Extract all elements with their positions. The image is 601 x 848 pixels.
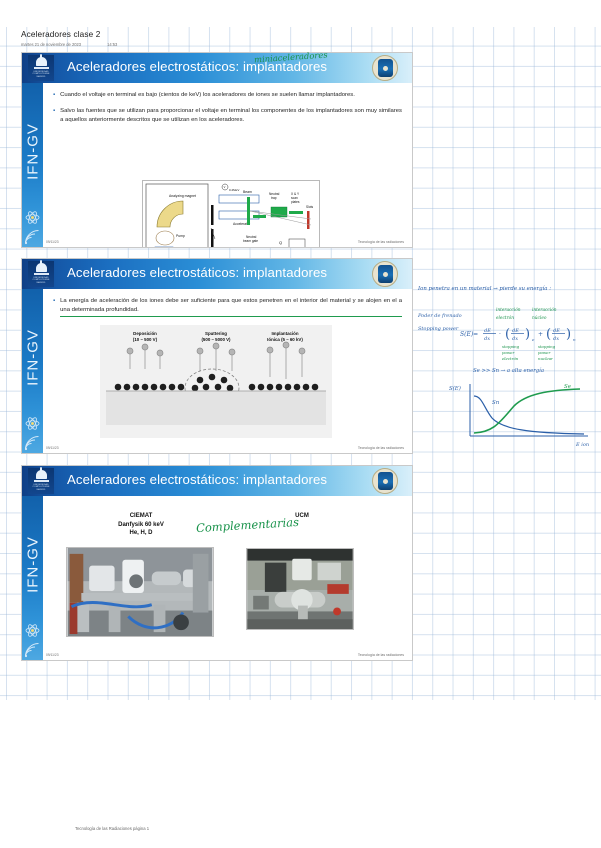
note-sub-electron-2: power xyxy=(502,350,514,355)
svg-text:e: e xyxy=(532,337,535,342)
photo-ucm-accelerator xyxy=(246,548,354,630)
seal-dot-shape xyxy=(383,272,388,277)
atom-icon xyxy=(25,623,40,638)
university-crest-icon: UNIVERSIDAD COMPLUTENSE MADRID xyxy=(28,55,54,81)
note-tag-nucleo-top: interacción xyxy=(532,308,557,313)
waves-icon xyxy=(24,230,41,245)
svg-text:beam gate: beam gate xyxy=(243,239,258,243)
slide-3-title: Aceleradores electrostáticos: implantado… xyxy=(67,472,327,487)
svg-text:): ) xyxy=(566,327,571,342)
svg-text:dE: dE xyxy=(553,328,560,334)
seal-inner-shape xyxy=(378,265,393,283)
atom-icon xyxy=(25,210,40,225)
svg-text:Pump: Pump xyxy=(176,234,185,238)
seal-inner-shape xyxy=(378,59,393,77)
slide-1-bullet-list: ▪ Cuando el voltaje en terminal es bajo … xyxy=(53,91,402,126)
note-sub-electron-1: stopping xyxy=(502,344,519,349)
implanter-schematic-svg: Analyzing magnet Pump Ion source V 0.20M… xyxy=(143,181,321,248)
svg-text:0.2MeV: 0.2MeV xyxy=(229,188,239,192)
crest-dome-shape xyxy=(36,263,47,272)
svg-text:Sn: Sn xyxy=(492,400,500,406)
atom-icon xyxy=(25,416,40,431)
slide-2-title: Aceleradores electrostáticos: implantado… xyxy=(67,265,327,280)
svg-text:n: n xyxy=(573,337,576,342)
caption-ciemat: CIEMAT Danfysik 60 keV He, H, D xyxy=(96,512,186,538)
photo-ciemat-accelerator xyxy=(66,547,214,637)
slide-1-brand-strip: IFN-GV xyxy=(22,83,43,248)
university-crest-icon: UNIVERSIDAD COMPLUTENSE MADRID xyxy=(28,261,54,287)
university-crest-icon: UNIVERSIDAD COMPLUTENSE MADRID xyxy=(28,468,54,494)
svg-text:): ) xyxy=(525,327,530,342)
implanter-schematic-figure: Analyzing magnet Pump Ion source V 0.20M… xyxy=(142,180,320,248)
slide-3-footer-label: Tecnología de las radiaciones xyxy=(358,653,404,657)
document-time: 14:53 xyxy=(107,42,117,47)
svg-text:dE: dE xyxy=(484,328,491,334)
note-sub-nuclear-1: stopping xyxy=(538,344,555,349)
crest-caption: UNIVERSIDAD COMPLUTENSE MADRID xyxy=(28,71,54,79)
stopping-power-graph: S(E) E ion Sn Se xyxy=(448,378,598,450)
svg-text:(10 – 500 V): (10 – 500 V) xyxy=(133,337,158,342)
slide-1[interactable]: UNIVERSIDAD COMPLUTENSE MADRID Acelerado… xyxy=(21,52,413,248)
stopping-power-formula: S(E)= dE dx · ( dE dx ) e + ( dE dx ) n xyxy=(460,322,600,344)
slide-2-brand-strip: IFN-GV xyxy=(22,289,43,454)
bullet-text: Cuando el voltaje en terminal es bajo (c… xyxy=(60,91,402,100)
svg-text:Iónica (5 – 60 kV): Iónica (5 – 60 kV) xyxy=(267,337,303,342)
bullet-text: Salvo las fuentes que se utilizan para p… xyxy=(60,107,402,125)
page-top-margin xyxy=(0,0,601,27)
crest-dome-shape xyxy=(36,470,47,479)
svg-text:·: · xyxy=(499,331,501,338)
svg-text:Se: Se xyxy=(564,384,571,390)
photo-ucm-svg xyxy=(247,549,353,629)
document-title: Aceleradores clase 2 xyxy=(21,30,117,39)
slide-1-footer-label: Tecnología de las radiaciones xyxy=(358,240,404,244)
slide-2-footer-label: Tecnología de las radiaciones xyxy=(358,446,404,450)
slide-3-footer-date: 09/11/23 xyxy=(46,653,59,657)
svg-text:(: ( xyxy=(546,327,551,342)
slide-2-footer-date: 09/11/23 xyxy=(46,446,59,450)
bullet-marker-icon: ▪ xyxy=(53,91,55,100)
svg-text:0.20MeV: 0.20MeV xyxy=(179,246,191,248)
bullet-item: ▪ Cuando el voltaje en terminal es bajo … xyxy=(53,91,402,100)
svg-text:Sputtering: Sputtering xyxy=(205,331,227,336)
crest-caption: UNIVERSIDAD COMPLUTENSE MADRID xyxy=(28,277,54,285)
svg-text:trap: trap xyxy=(271,196,277,200)
svg-text:(: ( xyxy=(505,327,510,342)
svg-text:dx: dx xyxy=(484,336,490,342)
bullet-marker-icon: ▪ xyxy=(53,107,55,125)
document-date: martes 21 de noviembre de 2023 xyxy=(21,42,81,47)
brand-label: IFN-GV xyxy=(25,324,42,392)
svg-text:Slots: Slots xyxy=(306,205,313,209)
ion-process-svg: Deposición (10 – 500 V) Sputtering (500 … xyxy=(100,325,332,438)
svg-text:Beam: Beam xyxy=(243,190,252,194)
note-stopping-power: Stopping power xyxy=(418,326,458,332)
slide-2-bullet-list: ▪ La energía de aceleración de los iones… xyxy=(53,297,402,317)
crest-dome-shape xyxy=(36,57,47,66)
document-header: Aceleradores clase 2 martes 21 de noviem… xyxy=(21,30,117,47)
svg-text:Deposición: Deposición xyxy=(133,331,157,336)
note-sub-nuclear-2: power xyxy=(538,350,550,355)
svg-text:Analyzing magnet: Analyzing magnet xyxy=(169,194,196,198)
crest-base-shape xyxy=(34,480,49,482)
svg-text:dx: dx xyxy=(512,336,518,342)
bullet-item: ▪ Salvo las fuentes que se utilizan para… xyxy=(53,107,402,125)
svg-text:Implantación: Implantación xyxy=(271,331,298,336)
svg-text:E ion: E ion xyxy=(575,442,589,448)
brand-label: IFN-GV xyxy=(25,118,42,186)
note-tag-electron-top: interacción xyxy=(496,308,521,313)
note-sub-nuclear-3: nuclear xyxy=(538,356,553,361)
bullet-marker-icon: ▪ xyxy=(53,297,55,317)
note-tag-nucleo-bottom: núcleo xyxy=(532,316,546,321)
waves-icon xyxy=(24,643,41,658)
note-poder-frenado: Poder de frenado xyxy=(418,313,462,319)
note-energy-loss-line: Ion penetra en un material → pierde su e… xyxy=(418,286,551,292)
svg-text:S(E): S(E) xyxy=(449,385,461,392)
brand-label: IFN-GV xyxy=(25,531,42,599)
svg-text:V: V xyxy=(224,185,226,189)
note-sub-electron-3: electrón xyxy=(502,356,518,361)
handwritten-notes-panel: Ion penetra en un material → pierde su e… xyxy=(418,286,598,456)
svg-text:dx: dx xyxy=(553,336,559,342)
seal-icon xyxy=(372,261,398,287)
slide-3-brand-strip: IFN-GV xyxy=(22,496,43,661)
seal-icon xyxy=(372,55,398,81)
slide-1-footer-date: 09/11/23 xyxy=(46,240,59,244)
svg-text:(500 – 5000 V): (500 – 5000 V) xyxy=(201,337,231,342)
svg-text:S(E)=: S(E)= xyxy=(460,331,478,338)
svg-text:plates: plates xyxy=(291,200,300,204)
crest-base-shape xyxy=(34,67,49,69)
svg-text:Q: Q xyxy=(279,240,282,245)
page-footer: Tecnología de las Radiaciones página 1 xyxy=(75,826,149,831)
bullet-text: La energía de aceleración de los iones d… xyxy=(60,297,402,317)
document-subtitle: martes 21 de noviembre de 202314:53 xyxy=(21,42,117,47)
ion-process-figure: Deposición (10 – 500 V) Sputtering (500 … xyxy=(100,325,332,438)
seal-inner-shape xyxy=(378,472,393,490)
crest-caption: UNIVERSIDAD COMPLUTENSE MADRID xyxy=(28,484,54,492)
bullet-item: ▪ La energía de aceleración de los iones… xyxy=(53,297,402,317)
note-relation-se-sn: Se >> Sn → a alta energía xyxy=(473,368,544,374)
seal-icon xyxy=(372,468,398,494)
waves-icon xyxy=(24,436,41,451)
seal-dot-shape xyxy=(383,66,388,71)
svg-text:+: + xyxy=(538,331,543,338)
crest-base-shape xyxy=(34,273,49,275)
photo-ciemat-svg xyxy=(67,548,213,636)
seal-dot-shape xyxy=(383,479,388,484)
note-tag-electron-bottom: electrón xyxy=(496,316,514,321)
svg-text:dE: dE xyxy=(512,328,519,334)
